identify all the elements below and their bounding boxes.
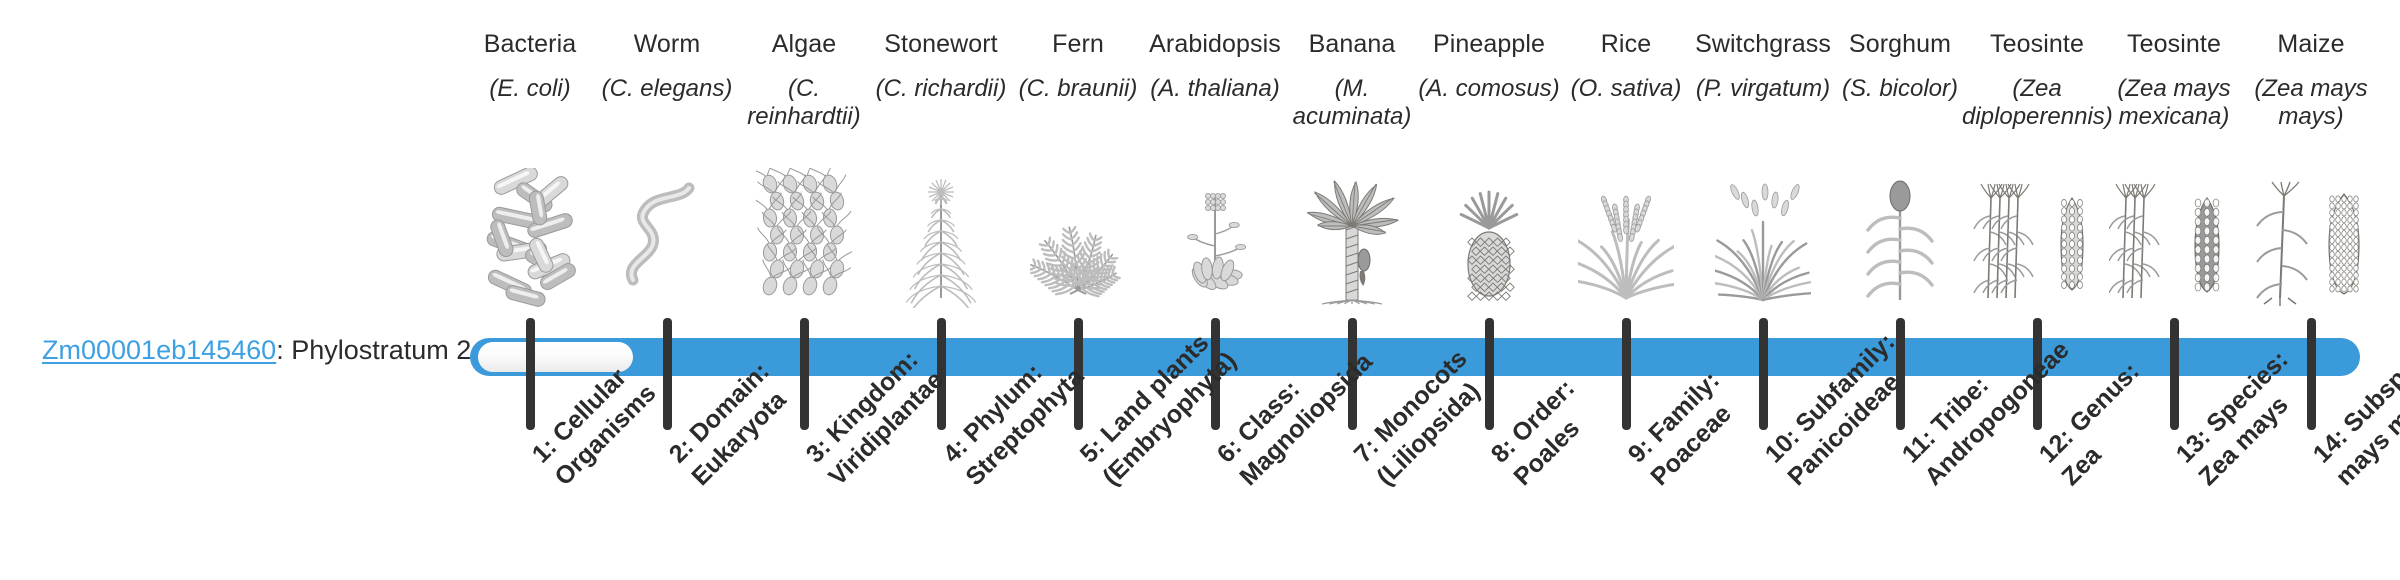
species-common-name: Teosinte (1962, 30, 2112, 59)
species-column: Banana(M. acuminata) (1277, 30, 1427, 131)
species-scientific-name: (Zea mays mexicana) (2099, 75, 2249, 131)
gene-label-separator: : (276, 335, 291, 365)
species-column: Bacteria(E. coli) (455, 30, 605, 103)
species-scientific-name: (Zea mays mays) (2236, 75, 2386, 131)
switchgrass-icon (1688, 168, 1838, 308)
rank-name: Domain: Eukaryota (684, 357, 791, 490)
stonewort-icon (866, 168, 1016, 308)
species-column: Stonewort(C. richardii) (866, 30, 1016, 103)
species-common-name: Pineapple (1414, 30, 1564, 59)
species-column: Arabidopsis(A. thaliana) (1140, 30, 1290, 103)
species-common-name: Teosinte (2099, 30, 2249, 59)
species-column: Teosinte(Zea diploperennis) (1962, 30, 2112, 131)
species-common-name: Banana (1277, 30, 1427, 59)
species-common-name: Algae (729, 30, 879, 59)
species-scientific-name: (C. elegans) (592, 75, 742, 103)
species-scientific-name: (A. comosus) (1414, 75, 1564, 103)
species-column: Teosinte(Zea mays mexicana) (2099, 30, 2249, 131)
species-common-name: Switchgrass (1688, 30, 1838, 59)
species-column: Maize(Zea mays mays) (2236, 30, 2386, 131)
species-scientific-name: (C. braunii) (1003, 75, 1153, 103)
species-scientific-name: (M. acuminata) (1277, 75, 1427, 131)
gene-label: Zm00001eb145460: Phylostratum 2 (42, 334, 462, 368)
species-common-name: Bacteria (455, 30, 605, 59)
pineapple-icon (1414, 168, 1564, 308)
species-column: Fern(C. braunii) (1003, 30, 1153, 103)
bacteria-icon (455, 168, 605, 308)
species-scientific-name: (O. sativa) (1551, 75, 1701, 103)
species-column: Switchgrass(P. virgatum) (1688, 30, 1838, 103)
species-common-name: Maize (2236, 30, 2386, 59)
species-column: Pineapple(A. comosus) (1414, 30, 1564, 103)
species-scientific-name: (C. richardii) (866, 75, 1016, 103)
banana-icon (1277, 168, 1427, 308)
species-column: Rice(O. sativa) (1551, 30, 1701, 103)
species-scientific-name: (S. bicolor) (1825, 75, 1975, 103)
rank-name: Subspecies: Zea mays mays (2330, 279, 2400, 491)
species-column: Algae(C. reinhardtii) (729, 30, 879, 131)
species-scientific-name: (P. virgatum) (1688, 75, 1838, 103)
phylostratum-value: Phylostratum 2 (291, 335, 471, 365)
species-common-name: Fern (1003, 30, 1153, 59)
rank-name: Cellular Organisms (547, 363, 661, 491)
algae-icon (729, 168, 879, 308)
rice-icon (1551, 168, 1701, 308)
worm-icon (592, 168, 742, 308)
teosinte-mex-icon (2099, 168, 2249, 308)
species-common-name: Stonewort (866, 30, 1016, 59)
species-scientific-name: (A. thaliana) (1140, 75, 1290, 103)
maize-icon (2236, 168, 2386, 308)
rank-name: Genus: Zea (2056, 357, 2145, 490)
rank-name: Family: Poaceae (1643, 366, 1736, 491)
rank-name: Phylum: Streptophyta (958, 358, 1088, 490)
species-common-name: Worm (592, 30, 742, 59)
sorghum-icon (1825, 168, 1975, 308)
species-scientific-name: (E. coli) (455, 75, 605, 103)
gene-id-link[interactable]: Zm00001eb145460 (42, 335, 276, 365)
species-column: Sorghum(S. bicolor) (1825, 30, 1975, 103)
species-scientific-name: (C. reinhardtii) (729, 75, 879, 131)
species-common-name: Arabidopsis (1140, 30, 1290, 59)
species-common-name: Rice (1551, 30, 1701, 59)
species-common-name: Sorghum (1825, 30, 1975, 59)
rank-name: Order: Poales (1506, 374, 1584, 491)
fern-icon (1003, 168, 1153, 308)
species-scientific-name: (Zea diploperennis) (1962, 75, 2112, 131)
species-column: Worm(C. elegans) (592, 30, 742, 103)
phylostratigraphy-timeline: Zm00001eb145460: Phylostratum 2 Bacteria… (0, 0, 2400, 580)
timeline-tick[interactable] (526, 318, 535, 430)
